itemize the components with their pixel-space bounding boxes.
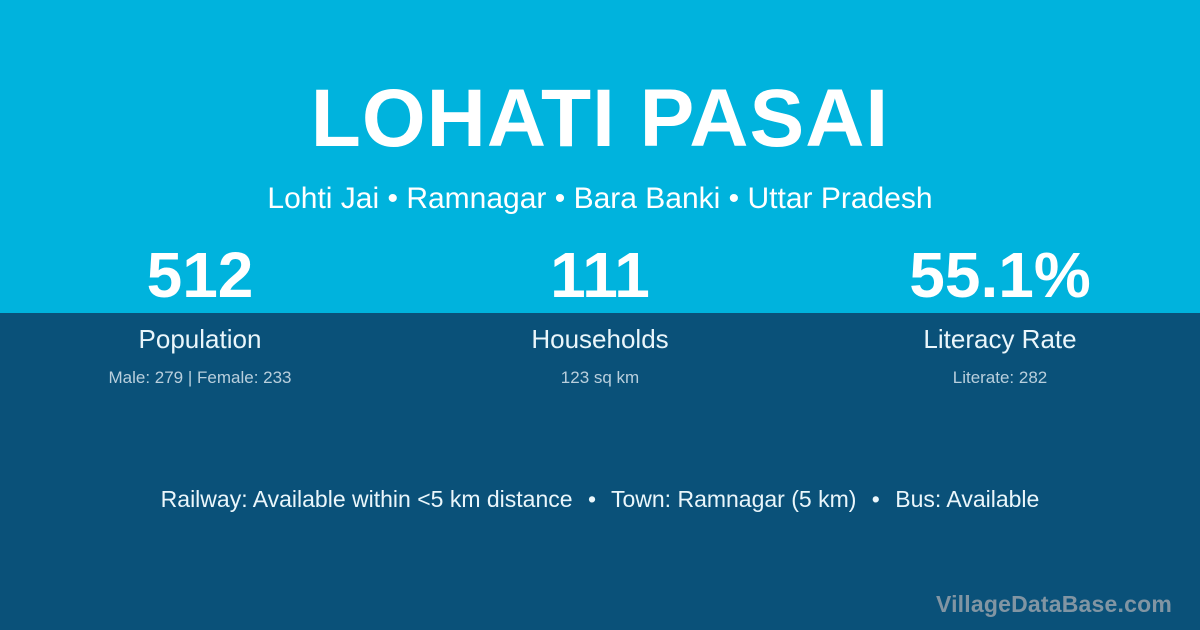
info-item-town: Town: Ramnagar (5 km) — [611, 486, 856, 512]
page-title: LOHATI PASAI — [0, 0, 1200, 160]
stat-sub: Literate: 282 — [800, 352, 1200, 386]
stat-label: Literacy Rate — [800, 313, 1200, 352]
stat-label: Households — [400, 313, 800, 352]
info-separator: • — [863, 486, 889, 512]
amenities-info-line: Railway: Available within <5 km distance… — [0, 486, 1200, 514]
stat-households: 111 Households 123 sq km — [400, 243, 800, 386]
village-info-card: LOHATI PASAI Lohti Jai • Ramnagar • Bara… — [0, 0, 1200, 630]
stat-label: Population — [0, 313, 400, 352]
info-item-railway: Railway: Available within <5 km distance — [161, 486, 573, 512]
stat-sub: Male: 279 | Female: 233 — [0, 352, 400, 386]
breadcrumb: Lohti Jai • Ramnagar • Bara Banki • Utta… — [0, 160, 1200, 214]
card-header: LOHATI PASAI Lohti Jai • Ramnagar • Bara… — [0, 0, 1200, 214]
stat-population: 512 Population Male: 279 | Female: 233 — [0, 243, 400, 386]
info-item-bus: Bus: Available — [895, 486, 1039, 512]
stat-literacy-rate: 55.1% Literacy Rate Literate: 282 — [800, 243, 1200, 386]
stat-value: 111 — [400, 243, 800, 313]
stat-sub: 123 sq km — [400, 352, 800, 386]
stat-value: 55.1% — [800, 243, 1200, 313]
info-separator: • — [579, 486, 605, 512]
stat-value: 512 — [0, 243, 400, 313]
site-watermark: VillageDataBase.com — [936, 593, 1172, 616]
stats-row: 512 Population Male: 279 | Female: 233 1… — [0, 243, 1200, 386]
